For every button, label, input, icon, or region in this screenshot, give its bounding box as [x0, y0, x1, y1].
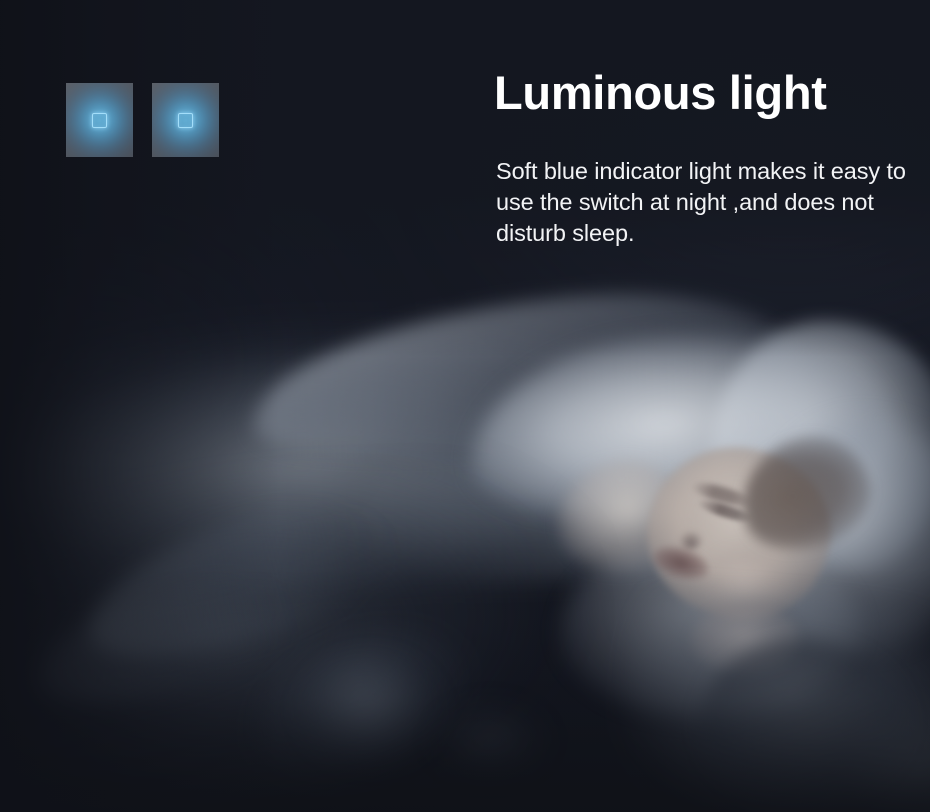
description-text: Soft blue indicator light makes it easy … — [496, 156, 920, 249]
blanket-crease — [700, 640, 910, 810]
rounded-square-indicator-icon — [178, 113, 193, 128]
blanket-highlight — [300, 656, 440, 766]
rounded-square-indicator-icon — [92, 113, 107, 128]
switch-panel-right — [152, 83, 219, 157]
luminous-light-banner: Luminous light Soft blue indicator light… — [0, 0, 930, 812]
switch-panel-left — [66, 83, 133, 157]
switch-panel-group — [66, 83, 219, 157]
page-title: Luminous light — [494, 68, 827, 119]
blanket-highlight — [430, 700, 550, 780]
